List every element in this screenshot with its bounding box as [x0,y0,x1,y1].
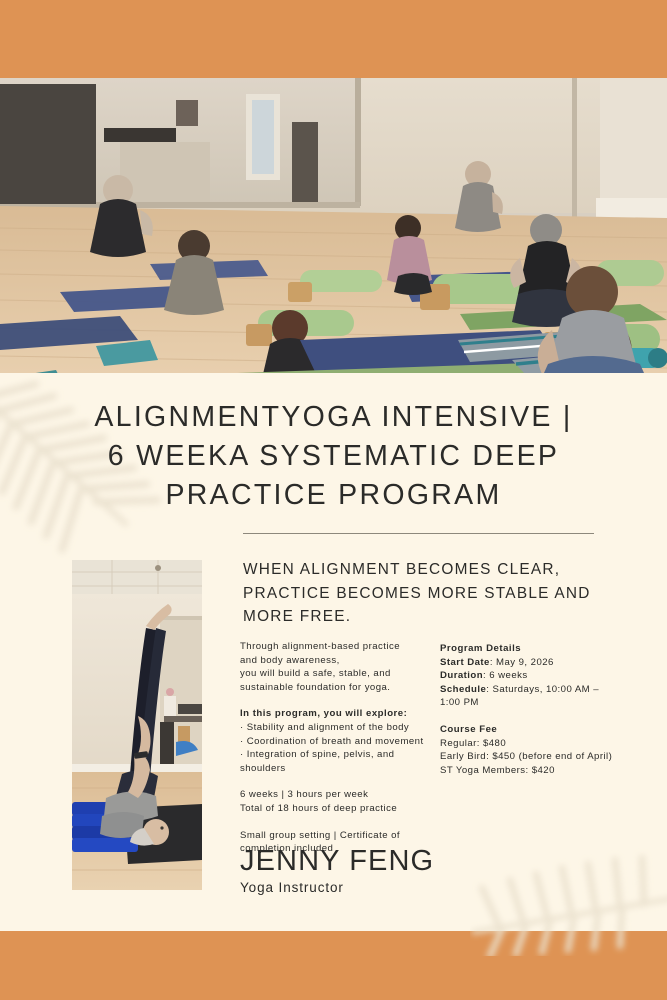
tagline: WHEN ALIGNMENT BECOMES CLEAR, PRACTICE B… [243,558,599,629]
program-details-heading: Program Details [440,643,521,654]
title-line-3: PRACTICE PROGRAM [60,476,607,515]
poster: ALIGNMENTYOGA INTENSIVE | 6 WEEKA SYSTEM… [0,0,667,1000]
top-color-band [0,0,667,78]
portrait-photo-shoulderstand [72,560,202,890]
instructor-name: JENNY FENG [240,845,434,878]
title-line-2: 6 WEEKA SYSTEMATIC DEEP [60,437,607,476]
fee-regular: Regular: $480 [440,738,506,749]
tagline-line-3: MORE FREE. [243,605,599,629]
instructor-role: Yoga Instructor [240,879,344,897]
tagline-line-2: PRACTICE BECOMES MORE STABLE AND [243,582,599,606]
fee-early-bird: Early Bird: $450 (before end of April) [440,751,612,762]
explore-item-1: · Coordination of breath and movement [240,736,424,747]
body-right-column: Program Details Start Date: May 9, 2026 … [440,642,618,777]
intro-paragraph: Through alignment-based practice and bod… [240,640,440,694]
schedule-label: Schedule [440,684,486,695]
course-fee-heading: Course Fee [440,724,497,735]
fee-members: ST Yoga Members: $420 [440,765,555,776]
explore-block: In this program, you will explore: · Sta… [240,707,440,775]
poster-title: ALIGNMENTYOGA INTENSIVE | 6 WEEKA SYSTEM… [60,398,607,515]
divider-rule [243,533,594,534]
start-date-value: : May 9, 2026 [490,657,554,668]
intro-line-1: Through alignment-based practice [240,641,400,652]
hours-line-2: Total of 18 hours of deep practice [240,803,397,814]
explore-item-0: · Stability and alignment of the body [240,722,409,733]
extras-line-1: Small group setting | Certificate of [240,830,400,841]
intro-line-4: sustainable foundation for yoga. [240,682,390,693]
hours-block: 6 weeks | 3 hours per week Total of 18 h… [240,788,440,815]
title-line-1: ALIGNMENTYOGA INTENSIVE | [60,398,607,437]
intro-line-3: you will build a safe, stable, and [240,668,391,679]
hours-line-1: 6 weeks | 3 hours per week [240,789,368,800]
body-left-column: Through alignment-based practice and bod… [240,640,440,856]
bottom-color-band [0,931,667,1000]
tagline-line-1: WHEN ALIGNMENT BECOMES CLEAR, [243,558,599,582]
start-date-label: Start Date [440,657,490,668]
duration-value: : 6 weeks [483,670,528,681]
course-fee-block: Course Fee Regular: $480 Early Bird: $45… [440,723,618,777]
intro-line-2: and body awareness, [240,655,340,666]
explore-heading: In this program, you will explore: [240,708,407,719]
hero-photo-yoga-class [0,78,667,373]
duration-label: Duration [440,670,483,681]
explore-item-2: · Integration of spine, pelvis, and shou… [240,749,394,774]
program-details-block: Program Details Start Date: May 9, 2026 … [440,642,618,710]
